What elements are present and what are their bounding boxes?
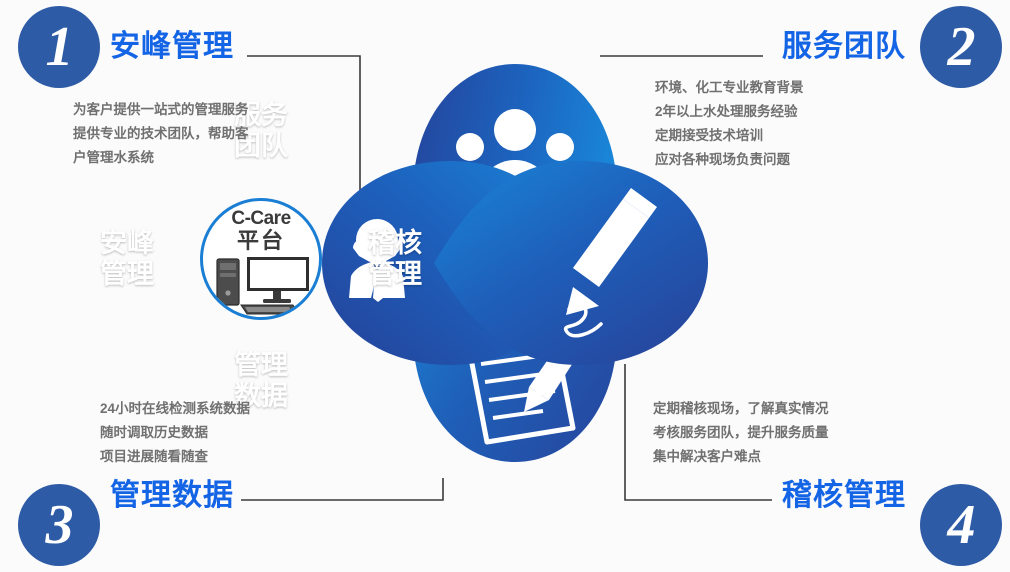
section-title-service-team: 服务团队 — [782, 21, 906, 65]
body-line: 随时调取历史数据 — [100, 421, 250, 445]
hub-text-block: C-Care 平台 — [203, 209, 319, 253]
section-title-anfeng-management: 安峰管理 — [110, 21, 234, 65]
hub-subtitle-label: 平台 — [203, 229, 319, 253]
body-line: 定期稽核现场，了解真实情况 — [653, 397, 829, 421]
body-line: 户管理水系统 — [73, 146, 249, 170]
section-body-3: 24小时在线检测系统数据随时调取历史数据项目进展随看随查 — [100, 397, 250, 469]
body-line: 应对各种现场负责问题 — [655, 148, 804, 172]
body-line: 为客户提供一站式的管理服务 — [73, 98, 249, 122]
desktop-computer-icon — [215, 253, 313, 317]
body-line: 环境、化工专业教育背景 — [655, 76, 804, 100]
body-line: 24小时在线检测系统数据 — [100, 397, 250, 421]
body-line: 集中解决客户难点 — [653, 445, 829, 469]
badge-number-3: 3 — [18, 484, 100, 566]
petal-label-left: 安峰 管理 — [84, 228, 170, 290]
badge-number-4: 4 — [920, 484, 1002, 566]
section-title-management-data: 管理数据 — [110, 470, 234, 514]
infographic-canvas: 服务 团队 管理 数据 安峰 管理 稽核 管理 C-Care 平台 1 2 — [0, 0, 1010, 572]
body-line: 项目进展随看随查 — [100, 445, 250, 469]
section-body-1: 为客户提供一站式的管理服务提供专业的技术团队，帮助客户管理水系统 — [73, 98, 249, 170]
badge-number-1: 1 — [18, 6, 100, 88]
center-hub-ccare-platform[interactable]: C-Care 平台 — [200, 198, 322, 320]
section-body-4: 定期稽核现场，了解真实情况考核服务团队，提升服务质量集中解决客户难点 — [653, 397, 829, 469]
body-line: 2年以上水处理服务经验 — [655, 100, 804, 124]
section-body-2: 环境、化工专业教育背景2年以上水处理服务经验定期接受技术培训应对各种现场负责问题 — [655, 76, 804, 172]
badge-number-2: 2 — [920, 6, 1002, 88]
body-line: 提供专业的技术团队，帮助客 — [73, 122, 249, 146]
section-title-audit-management: 稽核管理 — [782, 470, 906, 514]
body-line: 定期接受技术培训 — [655, 124, 804, 148]
body-line: 考核服务团队，提升服务质量 — [653, 421, 829, 445]
